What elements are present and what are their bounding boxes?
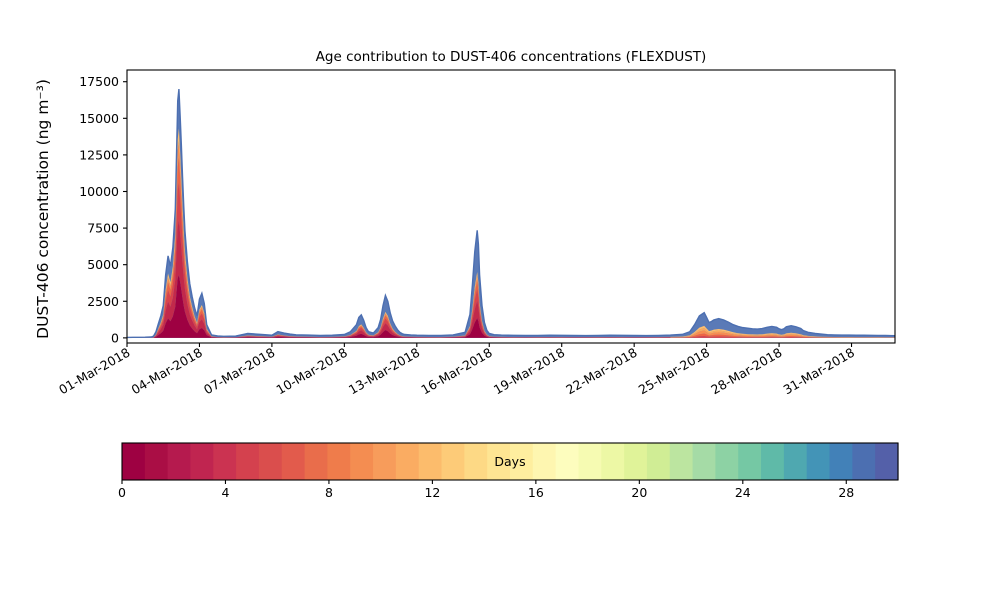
- colorbar-segment[interactable]: [715, 443, 738, 480]
- colorbar-segment[interactable]: [236, 443, 259, 480]
- colorbar-segment[interactable]: [282, 443, 305, 480]
- colorbar-tick-label: 28: [838, 485, 854, 500]
- colorbar-area: 0481216202428 Days: [118, 443, 899, 500]
- colorbar-segment[interactable]: [442, 443, 465, 480]
- x-tick-label: 31-Mar-2018: [781, 345, 857, 398]
- colorbar-tick-label: 20: [631, 485, 647, 500]
- area-band-6-8d-early: [127, 158, 670, 338]
- x-tick-label: 22-Mar-2018: [563, 345, 639, 398]
- colorbar-segment[interactable]: [190, 443, 213, 480]
- colorbar-tick-label: 12: [424, 485, 440, 500]
- x-tick-label: 13-Mar-2018: [346, 345, 422, 398]
- x-tick-label: 10-Mar-2018: [273, 345, 349, 398]
- colorbar-segment[interactable]: [670, 443, 693, 480]
- colorbar-segment[interactable]: [807, 443, 830, 480]
- colorbar-segment[interactable]: [830, 443, 853, 480]
- colorbar-segment[interactable]: [784, 443, 807, 480]
- x-tick-label: 25-Mar-2018: [636, 345, 712, 398]
- x-tick-label: 28-Mar-2018: [708, 345, 784, 398]
- y-tick-label: 5000: [87, 257, 119, 272]
- colorbar-tick-label: 4: [221, 485, 229, 500]
- line-total-envelope: [127, 89, 895, 337]
- x-tick-label: 16-Mar-2018: [418, 345, 494, 398]
- colorbar-segment[interactable]: [761, 443, 784, 480]
- area-band-4-6d-early: [127, 183, 670, 338]
- y-tick-label: 2500: [87, 294, 119, 309]
- y-tick-label: 12500: [79, 147, 119, 162]
- colorbar-tick-label: 24: [735, 485, 751, 500]
- y-tick-label: 17500: [79, 74, 119, 89]
- colorbar-tick-label: 16: [528, 485, 544, 500]
- y-tick-label: 7500: [87, 221, 119, 236]
- colorbar-segment[interactable]: [578, 443, 601, 480]
- x-tick-label: 01-Mar-2018: [56, 345, 132, 398]
- y-axis-label: DUST-406 concentration (ng m⁻³): [34, 79, 52, 339]
- colorbar-segment[interactable]: [213, 443, 236, 480]
- colorbar-segment[interactable]: [624, 443, 647, 480]
- colorbar-segment[interactable]: [122, 443, 145, 480]
- colorbar-label: Days: [494, 454, 525, 469]
- colorbar-segment[interactable]: [693, 443, 716, 480]
- colorbar-segment[interactable]: [464, 443, 487, 480]
- colorbar-segment[interactable]: [168, 443, 191, 480]
- y-axis-ticks: 025005000750010000125001500017500: [79, 74, 127, 345]
- x-tick-label: 07-Mar-2018: [201, 345, 277, 398]
- x-tick-label: 04-Mar-2018: [129, 345, 205, 398]
- colorbar-segment[interactable]: [533, 443, 556, 480]
- colorbar-segment[interactable]: [419, 443, 442, 480]
- area-band-10-12d-early: [127, 129, 670, 338]
- y-tick-label: 10000: [79, 184, 119, 199]
- colorbar-segment[interactable]: [852, 443, 875, 480]
- colorbar-tick-label: 0: [118, 485, 126, 500]
- colorbar-tick-label: 8: [325, 485, 333, 500]
- data-series-layer: [127, 89, 895, 338]
- y-tick-label: 0: [111, 330, 119, 345]
- axes-area: Age contribution to DUST-406 concentrati…: [34, 49, 895, 397]
- colorbar-segment[interactable]: [875, 443, 898, 480]
- area-total-older-ages: [127, 89, 895, 338]
- chart-title: Age contribution to DUST-406 concentrati…: [316, 49, 707, 65]
- area-band-8-10d-early: [127, 141, 670, 338]
- x-axis-ticks: 01-Mar-201804-Mar-201807-Mar-201810-Mar-…: [56, 343, 857, 397]
- colorbar-segment[interactable]: [350, 443, 373, 480]
- colorbar-segment[interactable]: [556, 443, 579, 480]
- colorbar-segment[interactable]: [738, 443, 761, 480]
- plot-frame: [127, 70, 895, 343]
- colorbar-segment[interactable]: [373, 443, 396, 480]
- colorbar-segment[interactable]: [396, 443, 419, 480]
- x-tick-label: 19-Mar-2018: [491, 345, 567, 398]
- area-band-2-4d-early: [127, 221, 670, 338]
- colorbar-segment[interactable]: [145, 443, 168, 480]
- line-young-envelope: [127, 129, 895, 338]
- colorbar-segment[interactable]: [601, 443, 624, 480]
- colorbar-segment[interactable]: [259, 443, 282, 480]
- chart-canvas: Age contribution to DUST-406 concentrati…: [0, 0, 1000, 600]
- y-tick-label: 15000: [79, 111, 119, 126]
- colorbar-segment[interactable]: [647, 443, 670, 480]
- figure: Age contribution to DUST-406 concentrati…: [0, 0, 1000, 600]
- colorbar-segment[interactable]: [327, 443, 350, 480]
- colorbar-ticks: 0481216202428: [118, 480, 854, 500]
- colorbar-segment[interactable]: [305, 443, 328, 480]
